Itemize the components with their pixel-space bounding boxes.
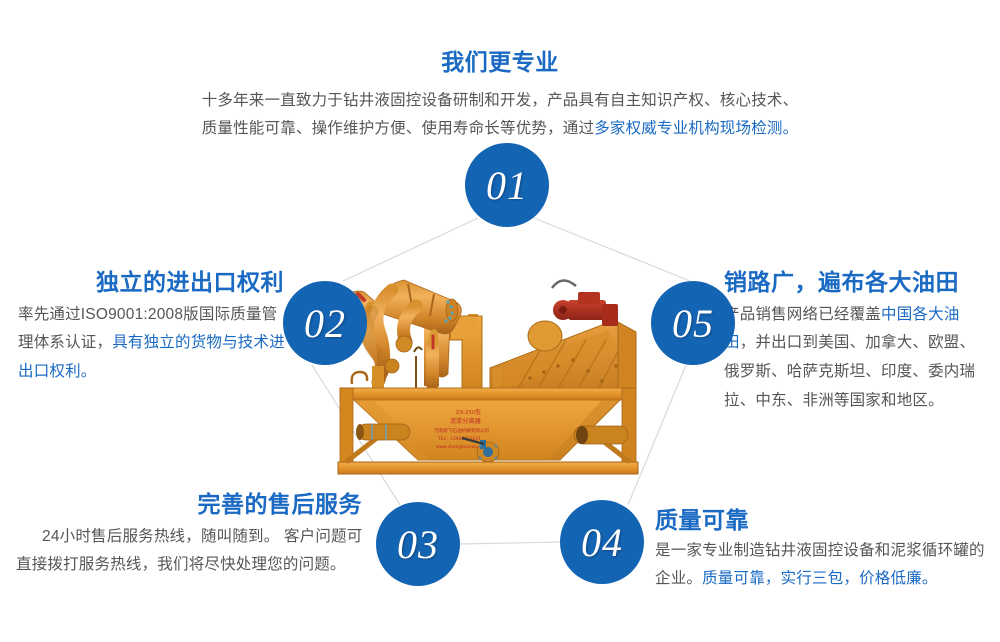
- feature-pentagon-infographic: ZX-250型 泥浆分离器 河南新飞石油机械有限公司 TEL：159367210…: [0, 0, 1000, 642]
- badge-05[interactable]: 05: [651, 281, 735, 365]
- feature-01-heading: 我们更专业: [150, 48, 850, 77]
- feature-block-03: 完善的售后服务 24小时售后服务热线，随叫随到。 客户问题可直接拨打服务热线，我…: [16, 490, 368, 580]
- badge-03[interactable]: 03: [376, 502, 460, 586]
- feature-01-body: 十多年来一直致力于钻井液固控设备研制和开发，产品具有自主知识产权、核心技术、 质…: [150, 87, 850, 144]
- svg-text:河南新飞石油机械有限公司: 河南新飞石油机械有限公司: [434, 427, 490, 434]
- feature-02-heading: 独立的进出口权利: [18, 268, 286, 297]
- feature-block-01: 我们更专业 十多年来一直致力于钻井液固控设备研制和开发，产品具有自主知识产权、核…: [150, 48, 850, 144]
- feature-block-02: 独立的进出口权利 率先通过ISO9001:2008版国际质量管理体系认证，具有独…: [18, 268, 286, 387]
- feature-05-body: 产品销售网络已经覆盖中国各大油田，并出口到美国、加拿大、欧盟、俄罗斯、哈萨克斯坦…: [724, 301, 986, 416]
- badge-01-label: 01: [486, 162, 528, 209]
- feature-04-heading: 质量可靠: [655, 506, 985, 535]
- badge-04-label: 04: [581, 519, 623, 566]
- feature-03-body: 24小时售后服务热线，随叫随到。 客户问题可直接拨打服务热线，我们将尽快处理您的…: [16, 523, 368, 580]
- badge-02-label: 02: [304, 300, 346, 347]
- feature-04-body: 是一家专业制造钻井液固控设备和泥浆循环罐的企业。质量可靠，实行三包，价格低廉。: [655, 537, 985, 594]
- feature-05-heading: 销路广，遍布各大油田: [724, 268, 986, 297]
- feature-05-plain-2: ，并出口到美国、加拿大、欧盟、俄罗斯、哈萨克斯坦、印度、委内瑞拉、中东、非洲等国…: [724, 334, 975, 408]
- svg-text:ZX-250型: ZX-250型: [456, 408, 481, 416]
- badge-03-label: 03: [397, 521, 439, 568]
- badge-05-label: 05: [672, 300, 714, 347]
- feature-02-body: 率先通过ISO9001:2008版国际质量管理体系认证，具有独立的货物与技术进出…: [18, 301, 286, 387]
- feature-05-plain-1: 产品销售网络已经覆盖: [724, 306, 881, 323]
- feature-block-05: 销路广，遍布各大油田 产品销售网络已经覆盖中国各大油田，并出口到美国、加拿大、欧…: [724, 268, 986, 415]
- feature-01-line2-plain: 质量性能可靠、操作维护方便、使用寿命长等优势，通过: [202, 120, 595, 137]
- badge-04[interactable]: 04: [560, 500, 644, 584]
- feature-04-highlight: 质量可靠，实行三包，价格低廉。: [702, 570, 938, 587]
- feature-01-line1: 十多年来一直致力于钻井液固控设备研制和开发，产品具有自主知识产权、核心技术、: [202, 92, 799, 109]
- feature-03-heading: 完善的售后服务: [16, 490, 368, 519]
- feature-01-line2-highlight: 多家权威专业机构现场检测。: [594, 120, 798, 137]
- feature-block-04: 质量可靠 是一家专业制造钻井液固控设备和泥浆循环罐的企业。质量可靠，实行三包，价…: [655, 506, 985, 594]
- badge-02[interactable]: 02: [283, 281, 367, 365]
- svg-text:泥浆分离器: 泥浆分离器: [450, 417, 482, 425]
- badge-01[interactable]: 01: [465, 143, 549, 227]
- product-photo-mud-separator: ZX-250型 泥浆分离器 河南新飞石油机械有限公司 TEL：159367210…: [330, 248, 660, 486]
